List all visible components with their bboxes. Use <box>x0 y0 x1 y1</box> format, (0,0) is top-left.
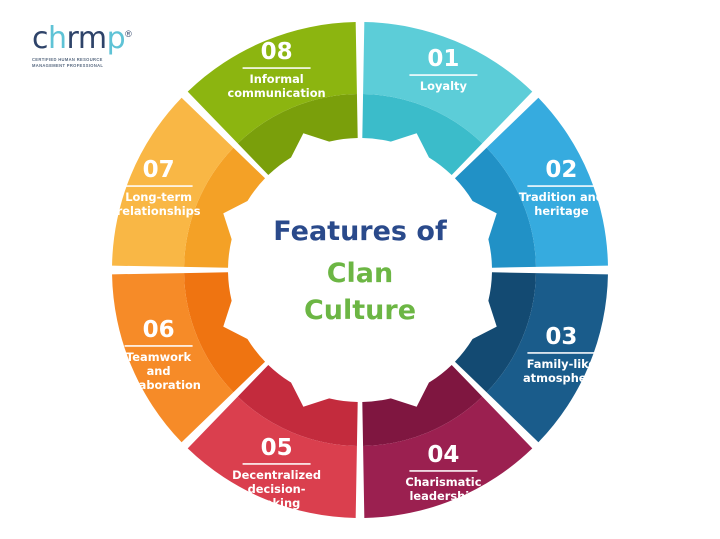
segment-number: 06 <box>143 316 175 342</box>
segment-label-line: heritage <box>534 204 589 218</box>
segment-label-line: Decentralized <box>232 467 321 481</box>
segment-number: 08 <box>261 39 293 65</box>
segment-label-line: Teamwork <box>126 349 192 363</box>
logo-letter-m: m <box>78 21 107 56</box>
logo-letter-c: c <box>32 21 48 56</box>
segment-label-line: Family-like <box>527 356 597 370</box>
segment-label-line: Loyalty <box>420 79 468 93</box>
logo-letter-h: h <box>48 21 67 56</box>
segment-label-line: Long-term <box>125 190 192 204</box>
segment-label-line: Charismatic <box>405 474 481 488</box>
segment-number: 02 <box>545 157 577 183</box>
center-title-line1: Features of <box>273 216 447 247</box>
logo-letter-r: r <box>67 21 78 56</box>
segment-label-line: collaboration <box>116 377 201 391</box>
infographic-canvas: chrmp® CERTIFIED HUMAN RESOURCE MANAGEME… <box>0 0 720 539</box>
segment-number: 07 <box>143 157 175 183</box>
center-hub: Features of Clan Culture <box>242 152 478 388</box>
center-title-line3: Culture <box>304 295 416 326</box>
segment-label-line: Informal <box>249 72 303 86</box>
segment-label-line: making <box>253 495 300 509</box>
segment-label-line: decision- <box>248 481 306 495</box>
segment-label-line: Tradition and <box>519 190 604 204</box>
segment-label-line: atmosphere <box>523 370 600 384</box>
segment-number: 01 <box>427 46 459 72</box>
segment-label-line: communication <box>227 86 325 100</box>
segment-number: 04 <box>427 441 459 467</box>
segment-label-line: and <box>147 363 171 377</box>
segment-number: 03 <box>545 323 577 349</box>
segment-label-line: relationships <box>117 204 201 218</box>
segment-label-line: leadership <box>410 488 478 502</box>
segment-number: 05 <box>261 434 293 460</box>
clan-culture-wheel: 01Loyalty02Tradition andheritage03Family… <box>104 14 616 526</box>
center-title-line2: Clan <box>327 258 394 289</box>
wheel-svg: 01Loyalty02Tradition andheritage03Family… <box>104 14 616 526</box>
